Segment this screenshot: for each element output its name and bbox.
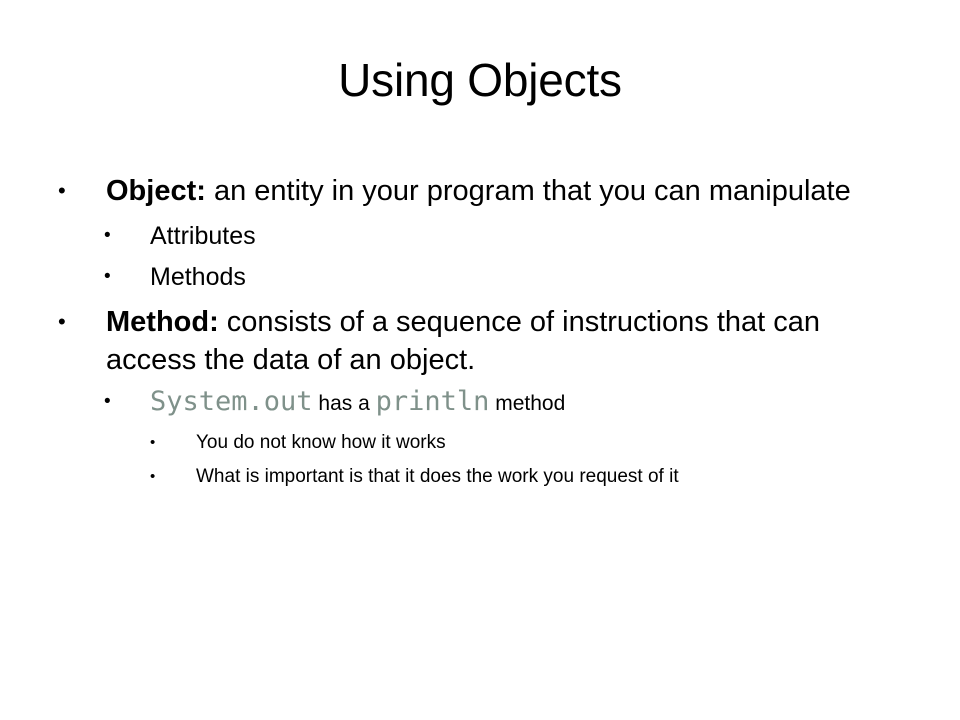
object-description: an entity in your program that you can m… [206, 175, 851, 207]
method-term: Method: [106, 306, 219, 338]
slide-canvas: Using Objects Object: • Object: an entit… [0, 0, 960, 720]
object-term: Object: [106, 175, 206, 207]
bullet-object-definition: Object: • Object: an entity in your prog… [0, 172, 960, 210]
bullet-does-the-work: • What is important is that it does the … [0, 461, 960, 492]
system-out-println-text: System.out has a println method [150, 384, 900, 422]
method-word-label: method [489, 392, 565, 415]
bullet-point-icon: • [150, 427, 155, 458]
code-println: println [376, 386, 490, 417]
bullet-point-icon: • [58, 172, 66, 210]
bullet-point-icon: • [104, 384, 111, 420]
bullet-system-out-println: • System.out has a println method [0, 384, 960, 422]
attributes-label: Attributes [150, 218, 900, 254]
does-the-work-label: What is important is that it does the wo… [196, 461, 920, 492]
methods-label: Methods [150, 259, 900, 295]
bullet-point-icon: • [104, 259, 111, 295]
slide-body: Object: • Object: an entity in your prog… [0, 172, 960, 492]
page-title: Using Objects [0, 56, 960, 104]
bullet-methods: • Methods [0, 259, 960, 295]
bullet-point-icon: • [58, 303, 66, 341]
do-not-know-how-label: You do not know how it works [196, 427, 920, 458]
bullet-attributes: • Attributes [0, 218, 960, 254]
bullet-method-definition-text: Method: consists of a sequence of instru… [106, 303, 900, 379]
bullet-object-definition-text: Object: an entity in your program that y… [106, 172, 900, 210]
code-system-out: System.out [150, 386, 313, 417]
bullet-point-icon: • [150, 461, 155, 492]
has-a-label: has a [313, 392, 376, 415]
bullet-do-not-know-how: • You do not know how it works [0, 427, 960, 458]
bullet-method-definition: • Method: consists of a sequence of inst… [0, 303, 960, 379]
bullet-point-icon: • [104, 218, 111, 254]
